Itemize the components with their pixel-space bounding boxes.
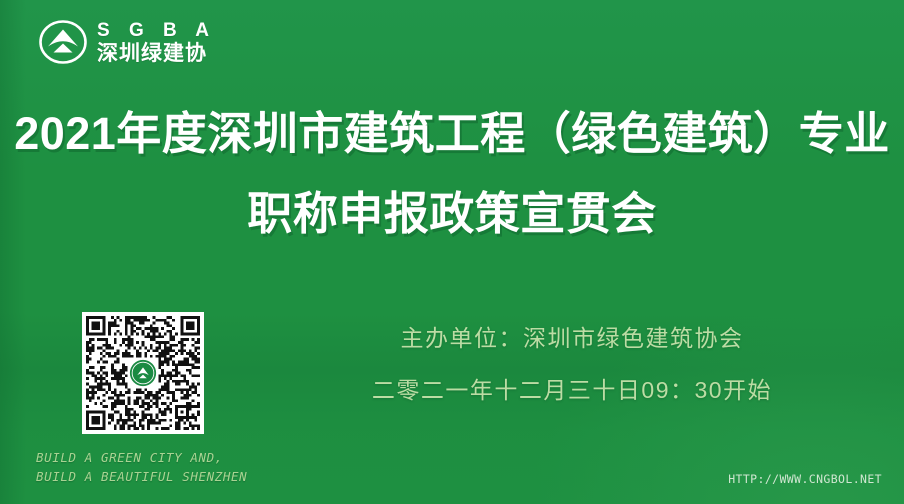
slogan-line-2: BUILD A BEAUTIFUL SHENZHEN [36,467,247,486]
page-title-line-2: 职称申报政策宣贯会 [0,176,904,252]
brand-acronym: S G B A [97,21,216,41]
poster-canvas: S G B A 深圳绿建协 2021年度深圳市建筑工程（绿色建筑）专业 职称申报… [0,0,904,504]
qr-code[interactable] [82,312,204,434]
slogan-line-1: BUILD A GREEN CITY AND, [36,448,247,467]
sgba-circle-roof-logo-icon [38,17,88,67]
brand-logo-text: S G B A 深圳绿建协 [97,19,216,65]
brand-organization-short: 深圳绿建协 [97,42,216,65]
event-details: 主办单位：深圳市绿色建筑协会 二零二一年十二月三十日09：30开始 [300,312,844,416]
slogan: BUILD A GREEN CITY AND, BUILD A BEAUTIFU… [36,448,247,486]
website-url: HTTP://WWW.CNGBOL.NET [728,472,882,486]
background-left-shade [0,0,26,504]
qr-code-matrix [86,316,200,430]
page-title-line-1: 2021年度深圳市建筑工程（绿色建筑）专业 [0,96,904,172]
event-organizer: 主办单位：深圳市绿色建筑协会 [300,312,844,364]
event-datetime: 二零二一年十二月三十日09：30开始 [300,364,844,416]
brand-logo: S G B A 深圳绿建协 [38,17,216,67]
sgba-badge-icon [128,358,158,388]
page-title: 2021年度深圳市建筑工程（绿色建筑）专业 职称申报政策宣贯会 [0,96,904,252]
